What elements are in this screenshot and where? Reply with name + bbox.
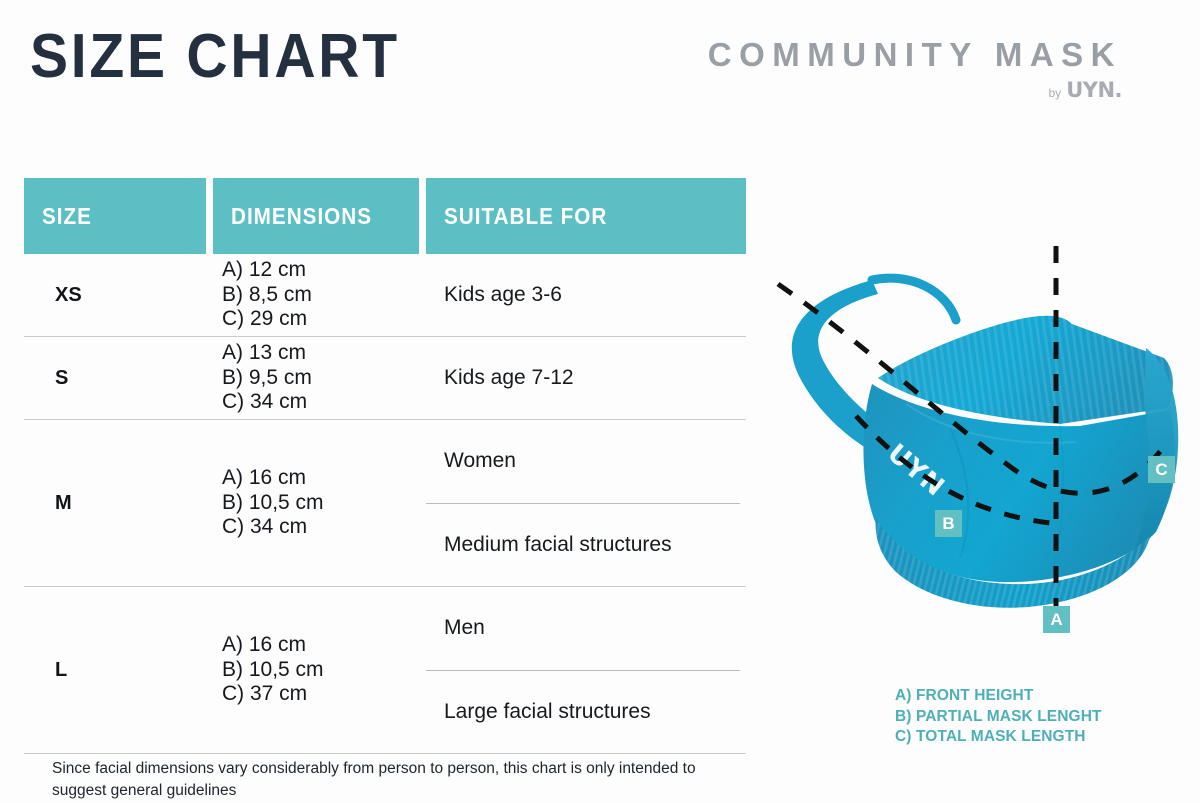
- column-header-dimensions: DIMENSIONS: [213, 178, 419, 254]
- column-header-size-label: SIZE: [42, 203, 92, 230]
- legend-item-b: B) PARTIAL MASK LENGHT: [895, 707, 1102, 728]
- cell-suitable-for-part: Large facial structures: [426, 671, 740, 754]
- cell-suitable-for-part: Medium facial structures: [426, 504, 740, 587]
- brand-product-title: COMMUNITY MASK: [708, 38, 1122, 71]
- cell-dimensions-text: A) 16 cm B) 10,5 cm C) 34 cm: [222, 466, 324, 540]
- table-row: XS A) 12 cm B) 8,5 cm C) 29 cm Kids age …: [24, 254, 746, 337]
- brand-byline: by UYN.: [708, 80, 1122, 101]
- cell-size: S: [24, 337, 213, 419]
- mask-diagram: UYN A B C: [760, 228, 1190, 658]
- brand-block: COMMUNITY MASK by UYN.: [708, 38, 1122, 101]
- badge-c: C: [1148, 456, 1175, 483]
- cell-suitable-for-part: Men: [426, 587, 740, 671]
- brand-by-word: by: [1049, 87, 1062, 101]
- cell-suitable-for-text: Kids age 3-6: [444, 283, 740, 307]
- cell-dimensions: A) 12 cm B) 8,5 cm C) 29 cm: [213, 254, 426, 336]
- table-footnote: Since facial dimensions vary considerabl…: [52, 758, 752, 803]
- cell-suitable-for-text: Kids age 7-12: [444, 366, 740, 390]
- cell-suitable-for-part: Women: [426, 420, 740, 504]
- cell-size: M: [24, 420, 213, 586]
- column-header-suitable-for: SUITABLE FOR: [426, 178, 746, 254]
- column-header-dimensions-label: DIMENSIONS: [231, 203, 372, 230]
- cell-suitable-for: Men Large facial structures: [426, 587, 746, 753]
- cell-dimensions-text: A) 13 cm B) 9,5 cm C) 34 cm: [222, 341, 312, 415]
- cell-dimensions: A) 16 cm B) 10,5 cm C) 37 cm: [213, 587, 426, 753]
- mask-illustration: UYN: [760, 228, 1190, 658]
- table-header-row: SIZE DIMENSIONS SUITABLE FOR: [24, 178, 746, 254]
- cell-dimensions-text: A) 16 cm B) 10,5 cm C) 37 cm: [222, 633, 324, 707]
- badge-b: B: [935, 510, 962, 537]
- diagram-legend: A) FRONT HEIGHT B) PARTIAL MASK LENGHT C…: [895, 686, 1102, 748]
- column-header-suitable-for-label: SUITABLE FOR: [444, 203, 607, 230]
- column-header-size: SIZE: [24, 178, 206, 254]
- cell-suitable-for: Kids age 3-6: [426, 254, 746, 336]
- cell-suitable-for-text: Large facial structures: [444, 700, 651, 724]
- cell-dimensions: A) 16 cm B) 10,5 cm C) 34 cm: [213, 420, 426, 586]
- table-row: M A) 16 cm B) 10,5 cm C) 34 cm Women Med…: [24, 420, 746, 587]
- cell-suitable-for-text: Medium facial structures: [444, 533, 672, 557]
- mask-body: UYN: [863, 316, 1178, 608]
- page-title: SIZE CHART: [30, 26, 400, 88]
- cell-suitable-for: Kids age 7-12: [426, 337, 746, 419]
- cell-dimensions-text: A) 12 cm B) 8,5 cm C) 29 cm: [222, 258, 312, 332]
- size-table: SIZE DIMENSIONS SUITABLE FOR XS A) 12 cm…: [24, 178, 746, 754]
- cell-suitable-for: Women Medium facial structures: [426, 420, 746, 586]
- cell-suitable-for-text: Women: [444, 449, 516, 473]
- table-row: L A) 16 cm B) 10,5 cm C) 37 cm Men Large…: [24, 587, 746, 754]
- uyn-logo: UYN.: [1066, 80, 1122, 101]
- legend-item-a: A) FRONT HEIGHT: [895, 686, 1102, 707]
- badge-a: A: [1043, 606, 1070, 633]
- legend-item-c: C) TOTAL MASK LENGTH: [895, 727, 1102, 748]
- cell-suitable-for-text: Men: [444, 616, 485, 640]
- size-chart-page: SIZE CHART COMMUNITY MASK by UYN. SIZE D…: [0, 0, 1200, 803]
- cell-dimensions: A) 13 cm B) 9,5 cm C) 34 cm: [213, 337, 426, 419]
- cell-size: L: [24, 587, 213, 753]
- table-row: S A) 13 cm B) 9,5 cm C) 34 cm Kids age 7…: [24, 337, 746, 420]
- cell-size: XS: [24, 254, 213, 336]
